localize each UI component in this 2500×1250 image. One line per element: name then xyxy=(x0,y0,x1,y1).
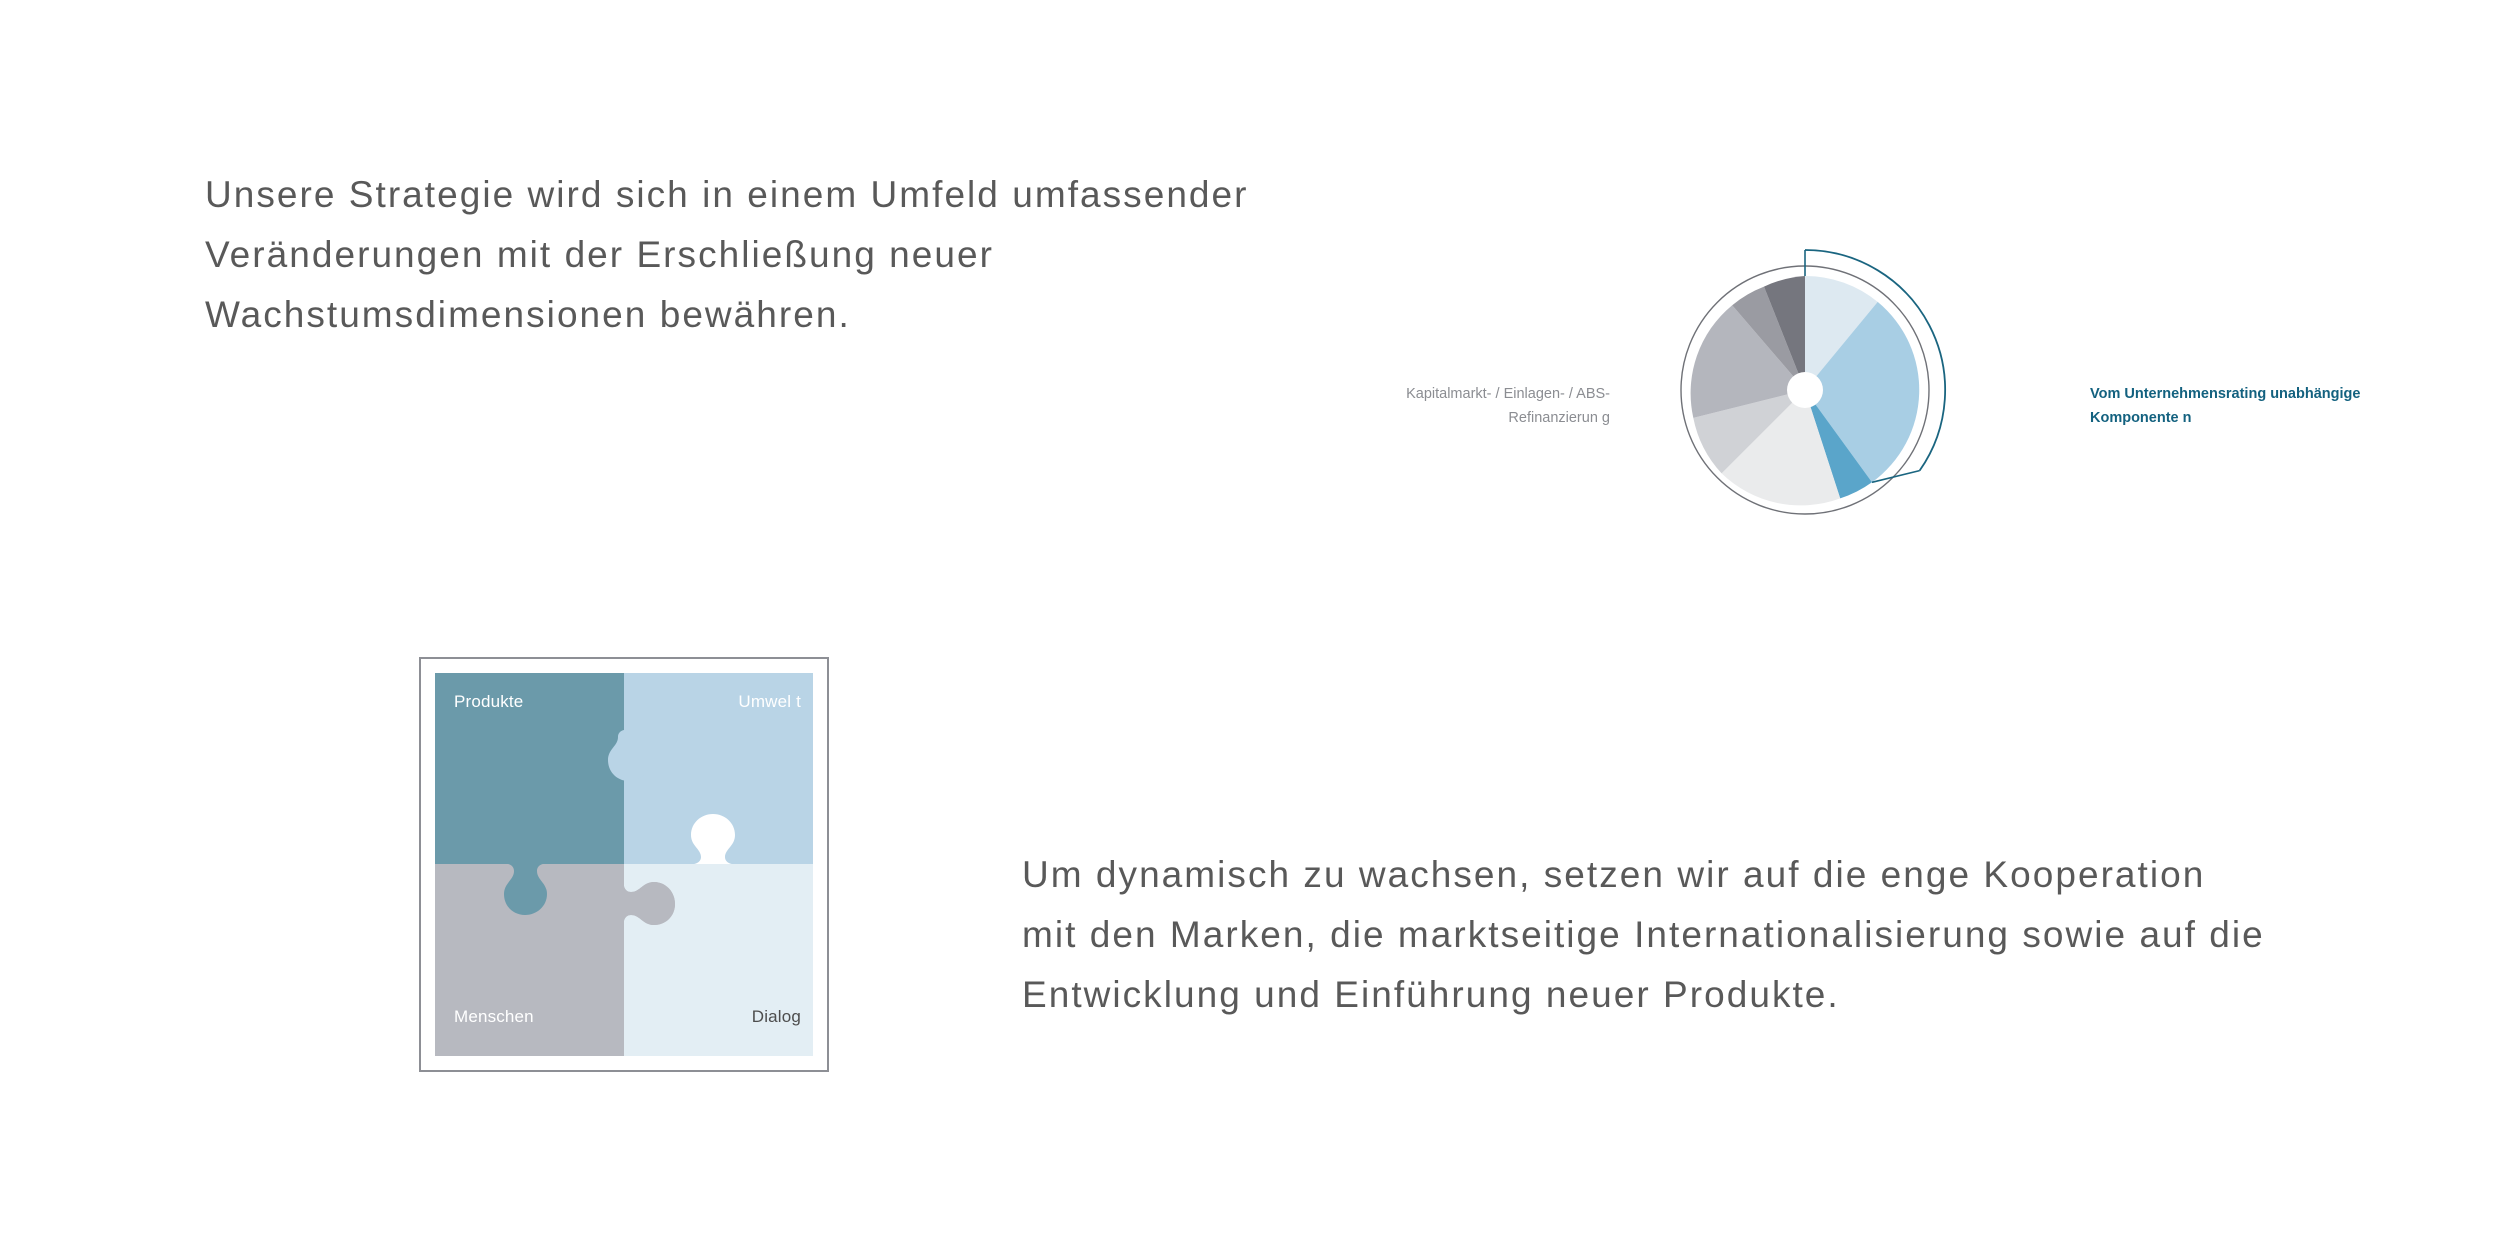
pie-label-unternehmensrating: Vom Unternehmensrating unabhängige Kompo… xyxy=(2090,382,2380,430)
puzzle-notch-seam xyxy=(624,730,625,781)
puzzle-svg xyxy=(435,673,813,1056)
refinancing-pie-chart xyxy=(1600,140,2070,640)
pie-label-kapitalmarkt: Kapitalmarkt- / Einlagen- / ABS-Refinanz… xyxy=(1395,382,1610,430)
puzzle-diagram: Produkte Umwel t Menschen Dialog xyxy=(419,657,829,1072)
puzzle-piece-umwelt xyxy=(624,673,813,864)
headline-growth: Um dynamisch zu wachsen, setzen wir auf … xyxy=(1022,845,2272,1025)
headline-strategy: Unsere Strategie wird sich in einem Umfe… xyxy=(205,165,1425,345)
pie-center-hub xyxy=(1787,372,1823,408)
pie-chart-svg xyxy=(1600,140,2070,640)
puzzle-piece-produkte xyxy=(435,673,624,864)
